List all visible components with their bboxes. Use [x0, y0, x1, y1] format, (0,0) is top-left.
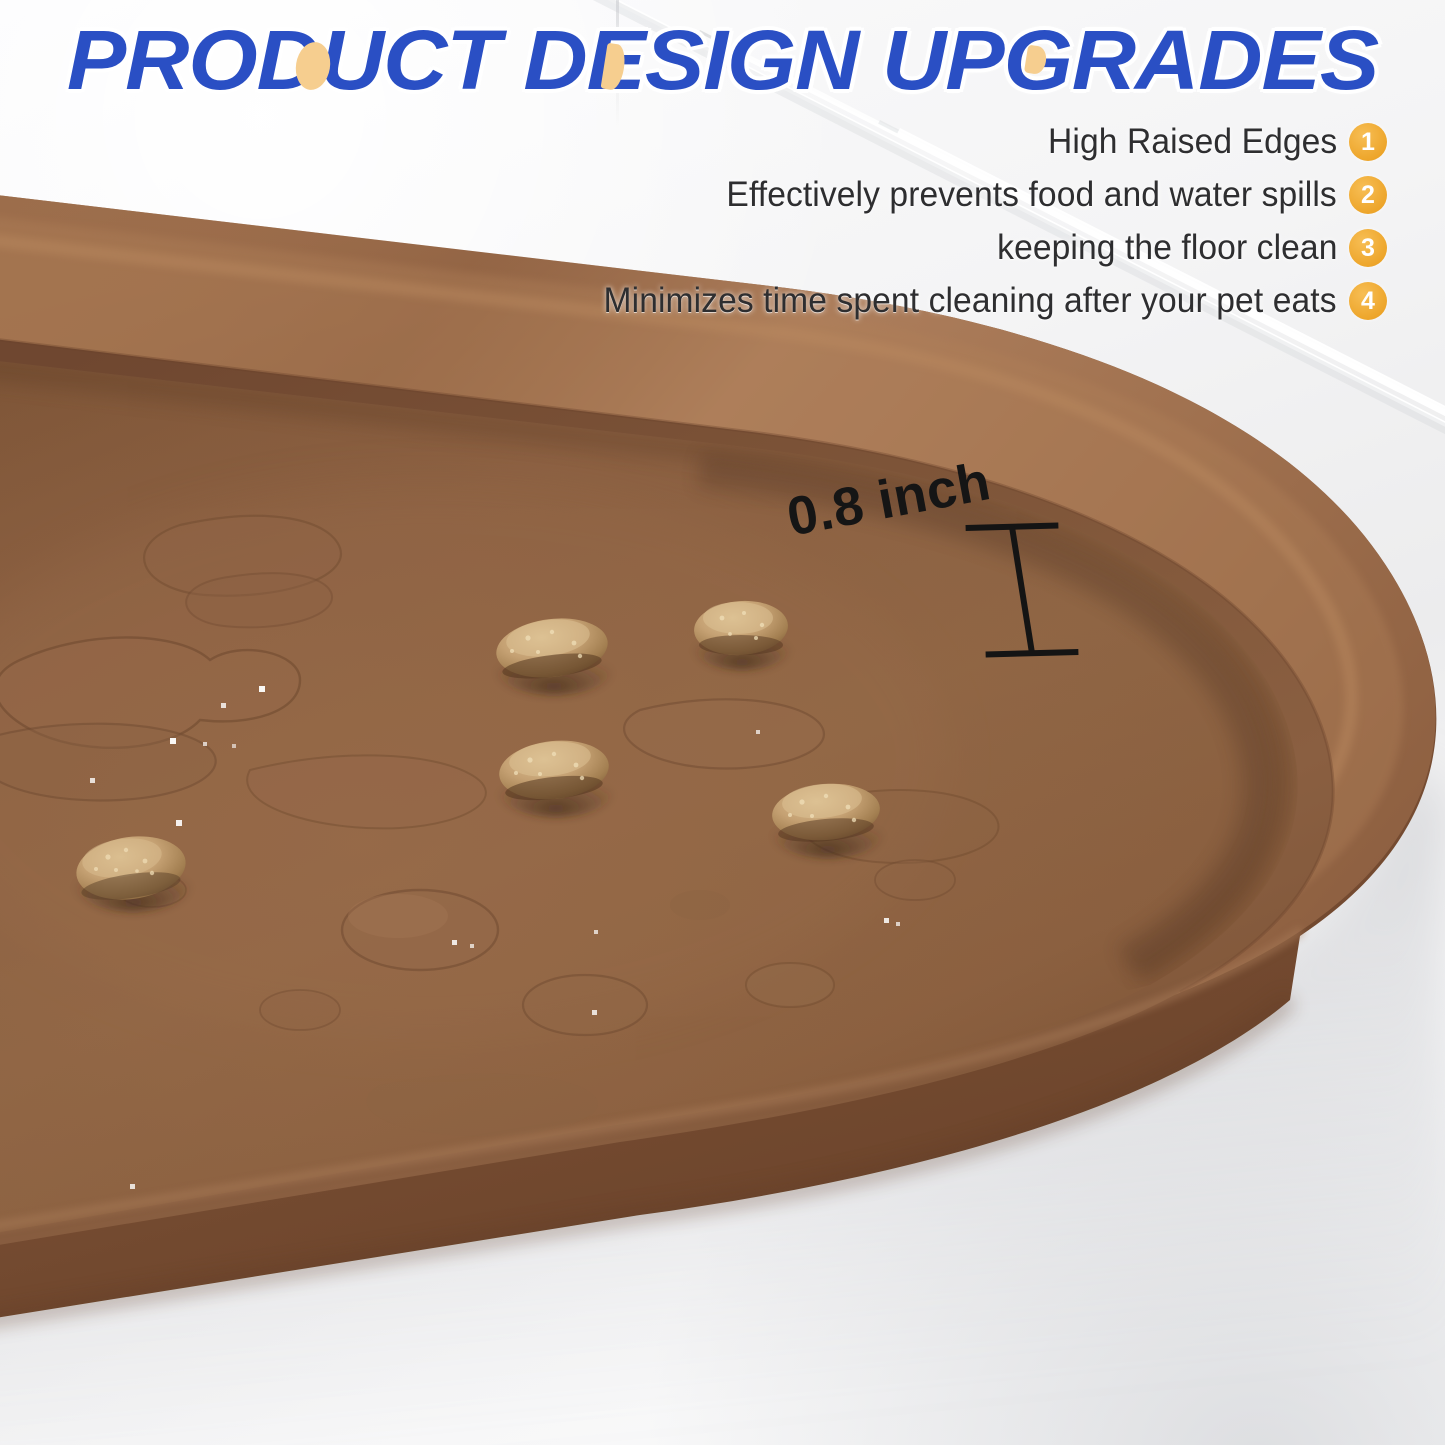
- feature-item-3: keeping the floor clean 3: [983, 228, 1388, 268]
- feature-item-4: Minimizes time spent cleaning after your…: [573, 281, 1387, 321]
- feature-number-badge: 4: [1349, 282, 1387, 320]
- feature-number-badge: 2: [1349, 176, 1387, 214]
- feature-label: Effectively prevents food and water spil…: [727, 175, 1337, 215]
- feature-list: High Raised Edges 1 Effectively prevents…: [573, 122, 1387, 321]
- feature-number-badge: 3: [1349, 229, 1387, 267]
- feature-label: High Raised Edges: [1048, 122, 1337, 162]
- feature-label: Minimizes time spent cleaning after your…: [604, 281, 1337, 321]
- feature-item-1: High Raised Edges 1: [1036, 122, 1387, 162]
- page-title: PRODUCT DESIGN UPGRADES: [0, 18, 1445, 102]
- product-infographic: PRODUCT DESIGN UPGRADES High Raised Edge…: [0, 0, 1445, 1445]
- feature-number-badge: 1: [1349, 123, 1387, 161]
- dimension-i-beam-icon: [962, 500, 1082, 680]
- feature-label: keeping the floor clean: [997, 228, 1337, 268]
- feature-item-2: Effectively prevents food and water spil…: [701, 175, 1387, 215]
